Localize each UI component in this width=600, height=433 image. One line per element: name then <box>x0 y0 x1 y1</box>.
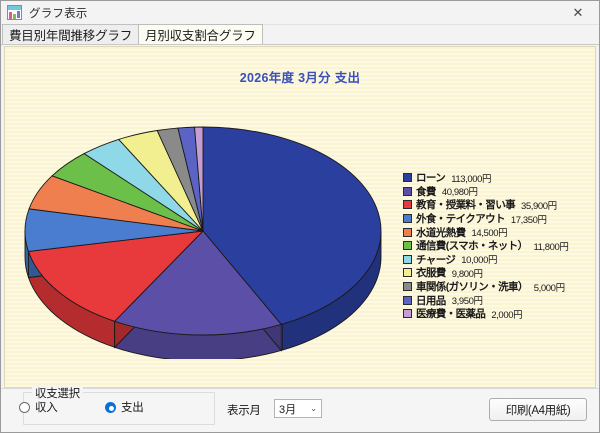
tab-yearly-trend[interactable]: 費目別年間推移グラフ <box>2 24 139 44</box>
legend-value: 113,000円 <box>451 171 491 185</box>
legend-item: 日用品3,950円 <box>403 293 596 307</box>
legend-item: チャージ10,000円 <box>403 253 596 267</box>
legend-item: 衣服費9,800円 <box>403 266 596 280</box>
legend-value: 11,800円 <box>533 239 568 253</box>
pie-chart-svg <box>13 109 393 359</box>
legend-value: 9,800円 <box>452 266 483 280</box>
legend-swatch <box>403 228 412 237</box>
chart-panel: 2026年度 3月分 支出 ローン113,000円食費40,980円教育・授業料… <box>4 46 596 388</box>
radio-expense-dot <box>105 402 116 413</box>
legend-item: 水道光熱費14,500円 <box>403 225 596 239</box>
legend-swatch <box>403 200 412 209</box>
legend-item: ローン113,000円 <box>403 171 596 185</box>
legend-swatch <box>403 268 412 277</box>
window-title: グラフ表示 <box>29 5 88 21</box>
chart-app-icon <box>7 5 22 20</box>
legend-swatch <box>403 214 412 223</box>
tab-strip: 費目別年間推移グラフ 月別収支割合グラフ <box>1 25 599 45</box>
radio-expense-label: 支出 <box>121 399 143 415</box>
legend-swatch <box>403 187 412 196</box>
legend-value: 10,000円 <box>461 252 497 266</box>
legend-label: 医療費・医薬品 <box>416 306 485 321</box>
month-label: 表示月 <box>227 402 261 418</box>
legend-item: 車関係(ガソリン・洗車）5,000円 <box>403 280 596 294</box>
legend-value: 17,350円 <box>511 212 547 226</box>
legend-swatch <box>403 241 412 250</box>
radio-expense[interactable]: 支出 <box>105 399 143 415</box>
print-button[interactable]: 印刷(A4用紙) <box>489 398 587 421</box>
legend-item: 食費40,980円 <box>403 185 596 199</box>
legend-value: 40,980円 <box>442 184 478 198</box>
legend-swatch <box>403 255 412 264</box>
legend-swatch <box>403 173 412 182</box>
chevron-down-icon: ⌄ <box>310 405 317 413</box>
legend-value: 2,000円 <box>491 307 522 321</box>
legend-value: 3,950円 <box>452 293 483 307</box>
radio-income-dot <box>19 402 30 413</box>
bottom-toolbar: 収支選択 収入 支出 表示月 3月 ⌄ 印刷(A4用紙) <box>1 388 599 432</box>
legend-value: 35,900円 <box>521 198 557 212</box>
tab-monthly-ratio[interactable]: 月別収支割合グラフ <box>138 24 263 44</box>
legend-swatch <box>403 309 412 318</box>
radio-income-label: 収入 <box>35 399 57 415</box>
legend-item: 教育・授業料・習い事35,900円 <box>403 198 596 212</box>
legend-value: 5,000円 <box>534 280 565 294</box>
legend-value: 14,500円 <box>472 225 508 239</box>
chart-legend: ローン113,000円食費40,980円教育・授業料・習い事35,900円外食・… <box>403 171 596 321</box>
close-icon[interactable]: ✕ <box>557 1 599 24</box>
legend-item: 外食・テイクアウト17,350円 <box>403 212 596 226</box>
month-select[interactable]: 3月 ⌄ <box>274 399 322 418</box>
title-bar: グラフ表示 ✕ <box>1 1 599 25</box>
legend-item: 医療費・医薬品2,000円 <box>403 307 596 321</box>
month-select-value: 3月 <box>279 401 296 417</box>
radio-income[interactable]: 収入 <box>19 399 57 415</box>
legend-item: 通信費(スマホ・ネット）11,800円 <box>403 239 596 253</box>
graph-window: グラフ表示 ✕ 費目別年間推移グラフ 月別収支割合グラフ 2026年度 3月分 … <box>0 0 600 433</box>
chart-title: 2026年度 3月分 支出 <box>5 67 595 86</box>
legend-swatch <box>403 282 412 291</box>
legend-swatch <box>403 296 412 305</box>
pie-chart <box>13 109 393 359</box>
